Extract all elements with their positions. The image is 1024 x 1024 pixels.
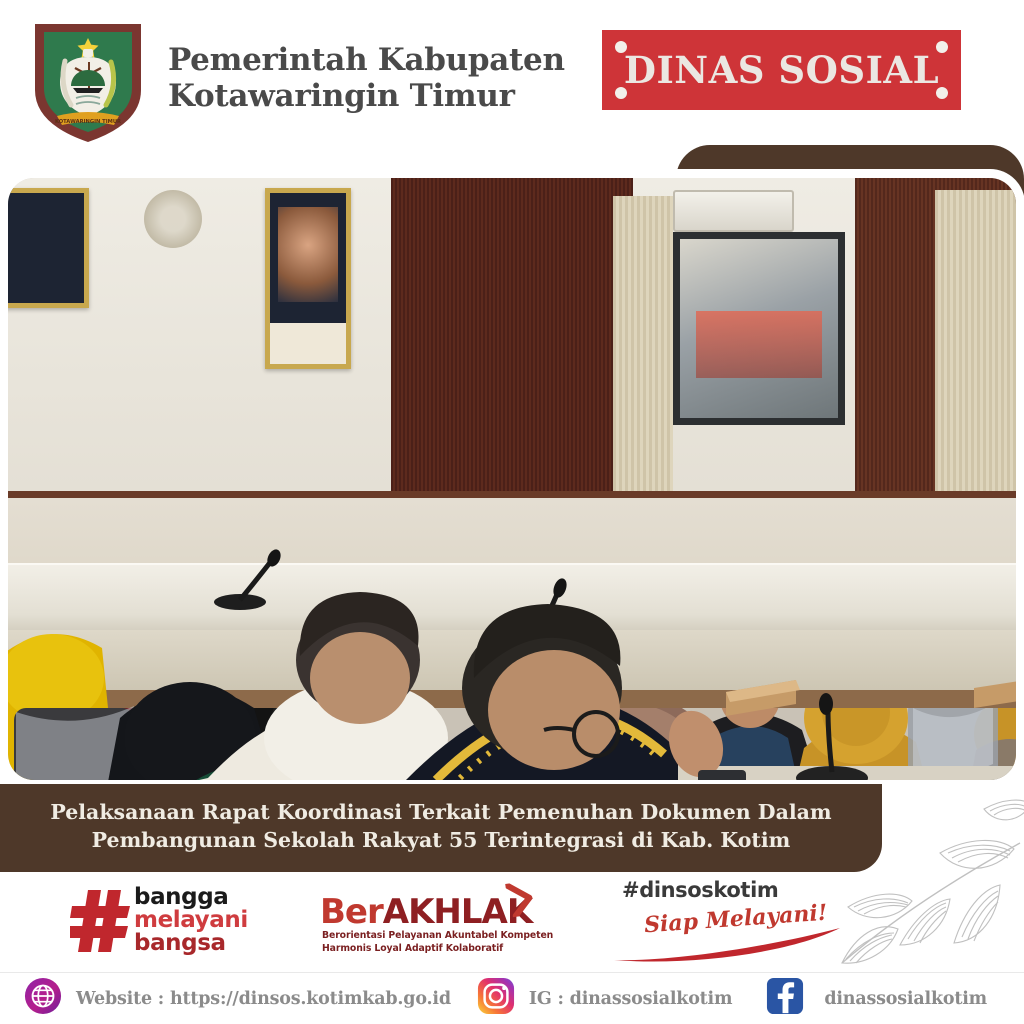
page-title: Pemerintah Kabupaten Kotawaringin Timur <box>168 42 565 114</box>
berakhlak-part-ber: Ber <box>320 892 383 932</box>
hashtag-icon <box>70 890 130 952</box>
plaque-dot-bottom-left <box>615 87 627 99</box>
caption-text: Pelaksanaan Rapat Koordinasi Terkait Pem… <box>0 798 882 854</box>
photo-phone <box>698 770 746 780</box>
plaque-label: DINAS SOSIAL <box>624 48 939 92</box>
dinas-sosial-plaque: DINAS SOSIAL <box>602 30 961 110</box>
berakhlak-tagline-line1: Berorientasi Pelayanan Akuntabel Kompete… <box>322 930 553 943</box>
logo-row: bangga melayani bangsa BerAKHLAK Berorie… <box>0 872 1024 972</box>
gov-title-line2: Kotawaringin Timur <box>168 78 565 114</box>
plaque-dot-top-right <box>936 41 948 53</box>
photo-foreground-layer <box>8 178 1016 780</box>
berakhlak-wordmark: BerAKHLAK <box>320 892 532 932</box>
bangga-melayani-bangsa-logo: bangga melayani bangsa <box>70 886 320 956</box>
footer-bar: Website : https://dinsos.kotimkab.go.id <box>0 972 1024 1024</box>
caption-line-1: Pelaksanaan Rapat Koordinasi Terkait Pem… <box>40 798 842 826</box>
bangga-word-3: bangsa <box>134 932 248 955</box>
bangga-word-2: melayani <box>134 909 248 932</box>
berakhlak-logo: BerAKHLAK Berorientasi Pelayanan Akuntab… <box>320 884 570 960</box>
photo-foreground-person-navy <box>406 604 732 780</box>
bangga-word-1: bangga <box>134 886 248 909</box>
facebook-icon <box>766 977 804 1020</box>
dinsoskotim-hashtag: #dinsoskotim <box>622 878 778 902</box>
kotawaringin-timur-coat-of-arms-icon: KOTAWARINGIN TIMUR <box>27 16 149 144</box>
footer-website[interactable]: Website : https://dinsos.kotimkab.go.id <box>24 977 451 1020</box>
berakhlak-tagline: Berorientasi Pelayanan Akuntabel Kompete… <box>322 930 553 955</box>
berakhlak-tagline-line2: Harmonis Loyal Adaptif Kolaboratif <box>322 943 553 956</box>
globe-icon <box>24 977 62 1020</box>
caption-bar: Pelaksanaan Rapat Koordinasi Terkait Pem… <box>0 784 882 872</box>
chevron-right-icon <box>505 880 537 925</box>
gov-title-line1: Pemerintah Kabupaten <box>168 42 565 78</box>
instagram-icon <box>477 977 515 1020</box>
photo-frame <box>8 178 1016 780</box>
caption-line-2: Pembangunan Sekolah Rakyat 55 Terintegra… <box>40 826 842 854</box>
footer-facebook-text: dinassosialkotim <box>824 989 987 1009</box>
meeting-photo <box>8 178 1016 780</box>
footer-instagram-text: IG : dinassosialkotim <box>529 989 732 1009</box>
red-swoosh-underline-icon <box>612 928 842 962</box>
svg-text:KOTAWARINGIN TIMUR: KOTAWARINGIN TIMUR <box>55 119 121 125</box>
footer-website-text: Website : https://dinsos.kotimkab.go.id <box>76 989 451 1009</box>
footer-facebook[interactable]: dinassosialkotim <box>766 977 987 1020</box>
dinsoskotim-logo: #dinsoskotim Siap Melayani! <box>612 878 872 962</box>
plaque-dot-top-left <box>615 41 627 53</box>
footer-instagram[interactable]: IG : dinassosialkotim <box>477 977 732 1020</box>
plaque-dot-bottom-right <box>936 87 948 99</box>
page-header: KOTAWARINGIN TIMUR Pemerintah Kabupaten … <box>0 0 1024 150</box>
bangga-wordmark: bangga melayani bangsa <box>134 886 248 955</box>
